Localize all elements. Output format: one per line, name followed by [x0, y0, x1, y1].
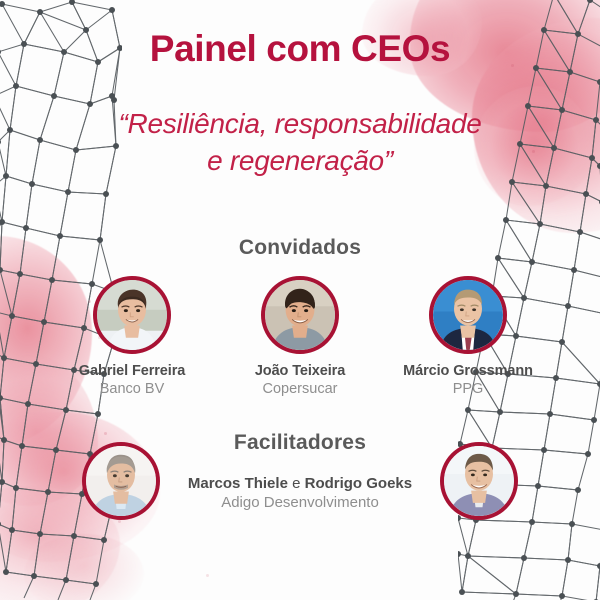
- portrait-gabriel-ferreira-icon: [97, 280, 167, 350]
- guests-list: Gabriel Ferreira Banco BV: [58, 276, 542, 397]
- guest-org: Copersucar: [263, 381, 338, 397]
- subtitle-line-1: “Resiliência, responsabilidade: [50, 106, 550, 143]
- facilitator-org: Adigo Desenvolvimento: [166, 494, 434, 511]
- facilitator-names: Marcos Thiele e Rodrigo Goeks: [166, 475, 434, 492]
- poster-canvas: Painel com CEOs “Resiliência, responsabi…: [0, 0, 600, 600]
- guest-card-marcio-grossmann: Márcio Grossmann PPG: [394, 276, 542, 397]
- guest-card-joao-teixeira: João Teixeira Copersucar: [226, 276, 374, 397]
- portrait-marcio-grossmann-icon: [433, 280, 503, 350]
- avatar-rodrigo-goeks: [440, 442, 518, 520]
- guest-name: Márcio Grossmann: [403, 363, 533, 379]
- portrait-rodrigo-goeks-icon: [444, 446, 514, 516]
- guest-card-gabriel-ferreira: Gabriel Ferreira Banco BV: [58, 276, 206, 397]
- subtitle-line-2: e regeneração”: [50, 143, 550, 180]
- poster-content: Painel com CEOs “Resiliência, responsabi…: [0, 0, 600, 600]
- facilitator-name-left: Marcos Thiele: [188, 475, 288, 492]
- guest-name: João Teixeira: [255, 363, 345, 379]
- avatar-marcio-grossmann: [429, 276, 507, 354]
- facilitator-conjunction: e: [288, 475, 305, 492]
- facilitator-name-right: Rodrigo Goeks: [305, 475, 413, 492]
- portrait-joao-teixeira-icon: [265, 280, 335, 350]
- guest-org: Banco BV: [100, 381, 165, 397]
- section-heading-convidados: Convidados: [0, 236, 600, 260]
- avatar-joao-teixeira: [261, 276, 339, 354]
- facilitators-text: Marcos Thiele e Rodrigo Goeks Adigo Dese…: [160, 475, 440, 511]
- guest-org: PPG: [453, 381, 484, 397]
- guest-name: Gabriel Ferreira: [79, 363, 185, 379]
- facilitators-list: Marcos Thiele e Rodrigo Goeks Adigo Dese…: [82, 442, 518, 520]
- page-title: Painel com CEOs: [0, 30, 600, 69]
- portrait-marcos-thiele-icon: [86, 446, 156, 516]
- avatar-marcos-thiele: [82, 442, 160, 520]
- avatar-gabriel-ferreira: [93, 276, 171, 354]
- poster-subtitle: “Resiliência, responsabilidade e regener…: [50, 106, 550, 180]
